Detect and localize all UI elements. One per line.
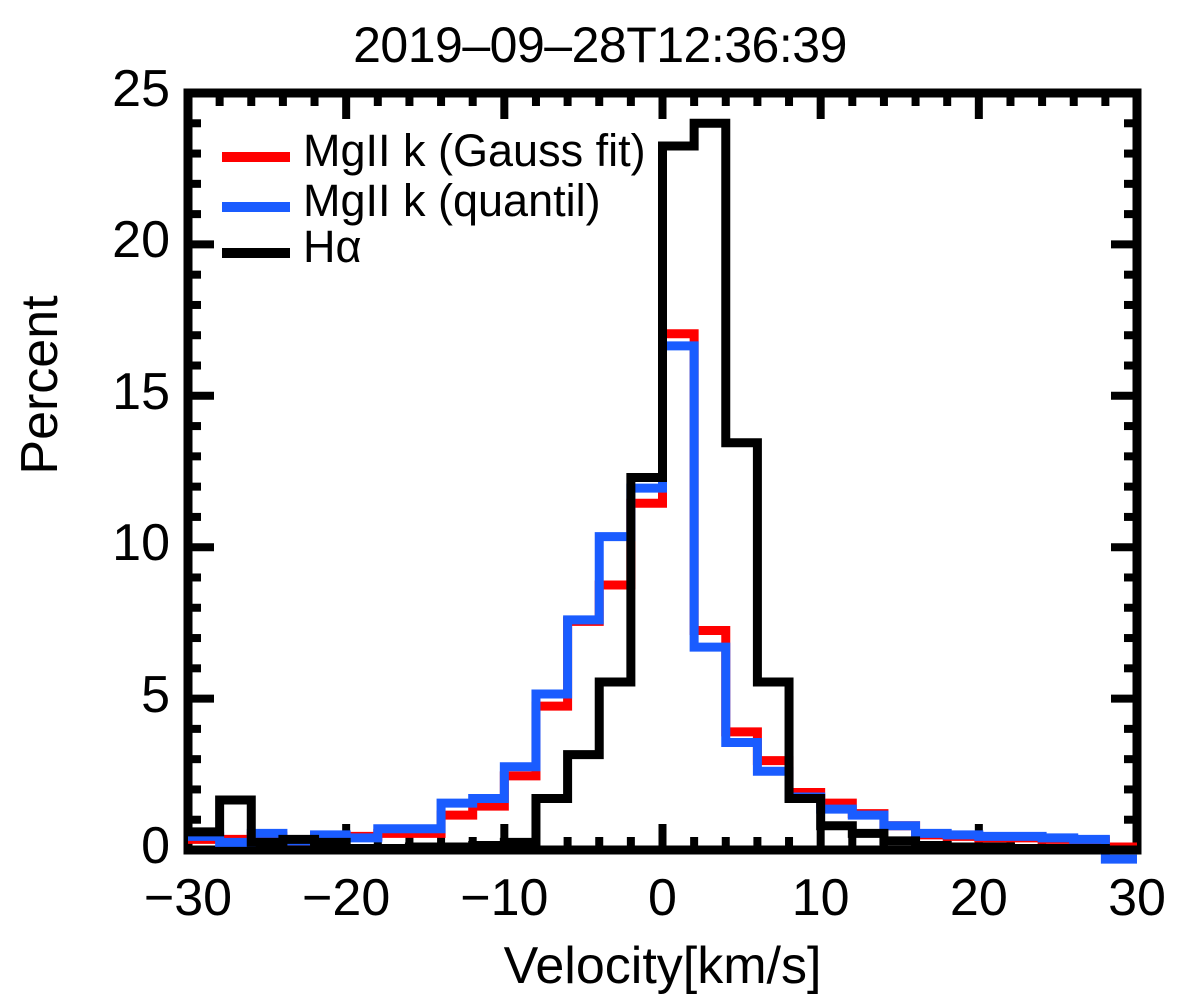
x-tick-label: 0 [583, 868, 743, 928]
legend-label-2: MgII k (quantil) [303, 175, 601, 227]
y-tick-label: 25 [10, 59, 170, 119]
y-tick-label: 5 [10, 665, 170, 725]
legend-label-3: Hα [303, 221, 362, 273]
x-tick-label: 20 [899, 868, 1059, 928]
x-tick-label: −10 [424, 868, 584, 928]
y-tick-label: 20 [10, 210, 170, 270]
y-tick-label: 0 [10, 816, 170, 876]
legend-swatches [222, 157, 290, 253]
x-tick-label: −20 [266, 868, 426, 928]
y-tick-label: 15 [10, 362, 170, 422]
chart-page: 2019–09–28T12:36:39 Percent Velocity[km/… [0, 0, 1200, 1003]
x-tick-label: −30 [108, 868, 268, 928]
legend-label-1: MgII k (Gauss fit) [303, 125, 646, 177]
x-tick-label: 10 [741, 868, 901, 928]
x-tick-label: 30 [1057, 868, 1200, 928]
y-tick-label: 10 [10, 513, 170, 573]
